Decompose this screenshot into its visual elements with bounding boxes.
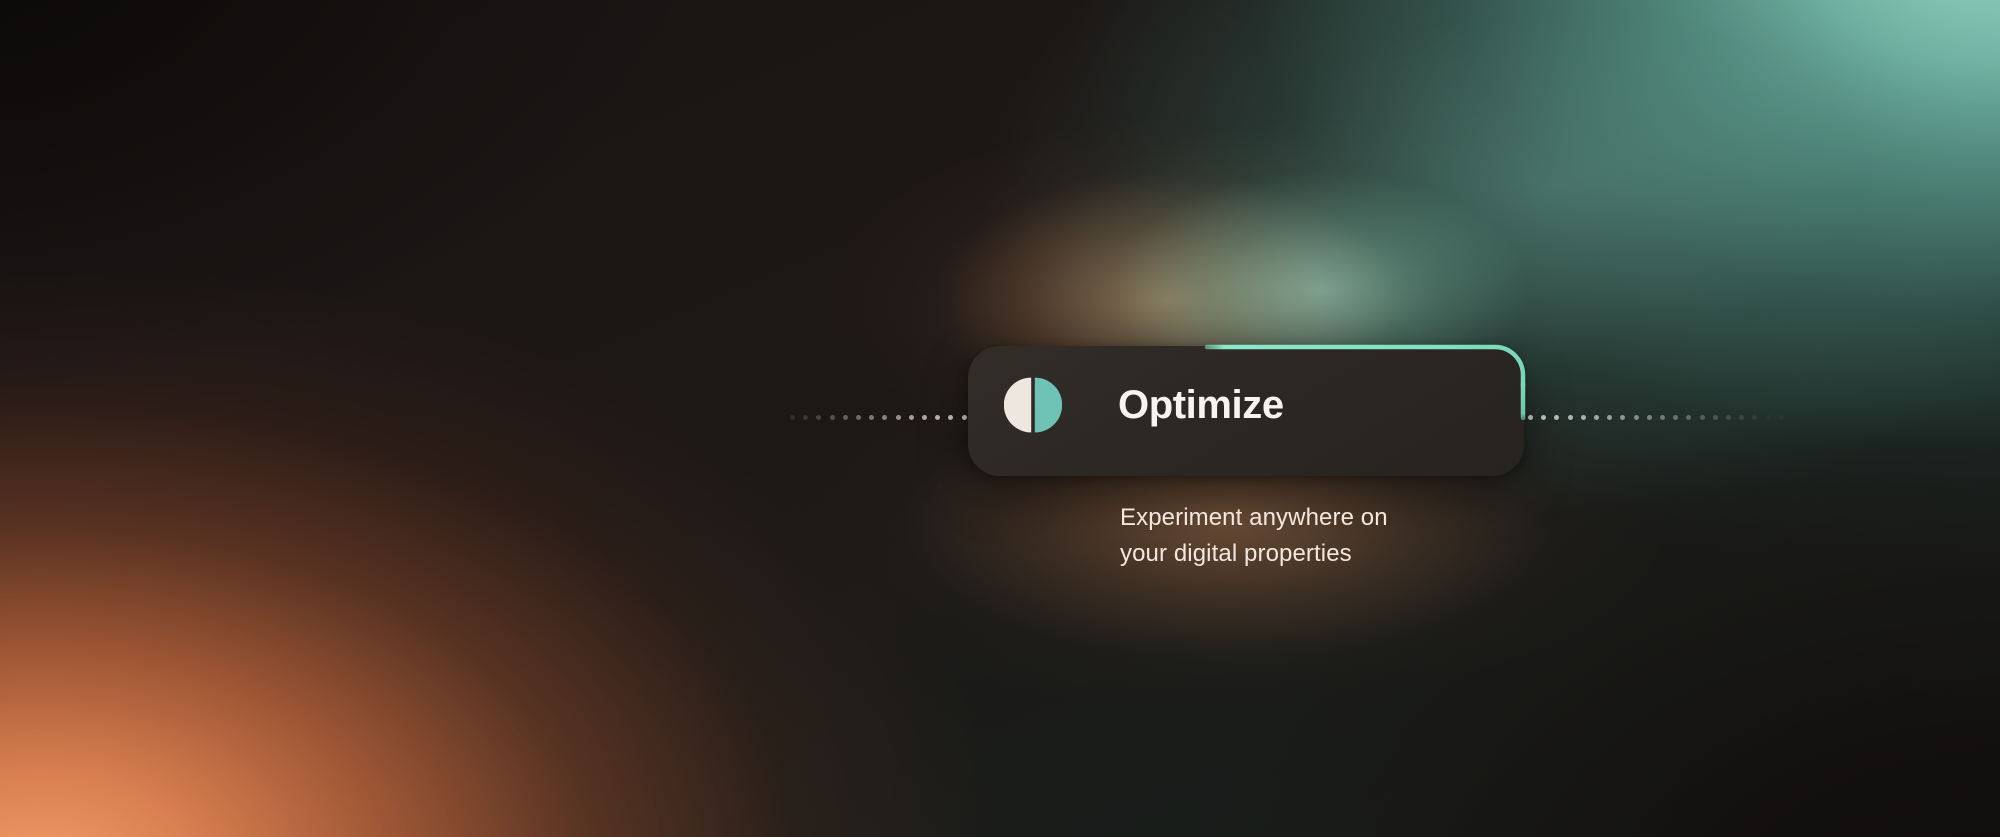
connector-dot xyxy=(1779,415,1784,420)
connector-dot xyxy=(816,415,821,420)
connector-dot xyxy=(830,415,835,420)
connector-dot xyxy=(1686,415,1691,420)
connector-dot xyxy=(962,415,967,420)
connector-dot xyxy=(1554,415,1559,420)
connector-dot xyxy=(1568,415,1573,420)
card-title: Optimize xyxy=(1118,383,1284,428)
split-circle-logo-icon xyxy=(1004,376,1062,434)
connector-dot xyxy=(1647,415,1652,420)
connector-dot xyxy=(1739,415,1744,420)
card-subtitle-line-1: Experiment anywhere on xyxy=(1120,500,1480,536)
connector-dot xyxy=(790,415,795,420)
connector-dot xyxy=(1528,415,1533,420)
connector-dot xyxy=(856,415,861,420)
connector-dot xyxy=(1620,415,1625,420)
connector-dot xyxy=(909,415,914,420)
card-subtitle: Experiment anywhere on your digital prop… xyxy=(1120,500,1480,572)
connector-dot xyxy=(1541,415,1546,420)
connector-dot xyxy=(896,415,901,420)
connector-dot xyxy=(1660,415,1665,420)
connector-dot xyxy=(935,415,940,420)
connector-dot xyxy=(922,415,927,420)
connector-dot xyxy=(1713,415,1718,420)
connector-dot xyxy=(882,415,887,420)
connector-dot xyxy=(948,415,953,420)
dotted-line-left xyxy=(790,415,970,421)
connector-dot xyxy=(1581,415,1586,420)
connector-dot xyxy=(1752,415,1757,420)
connector-dot xyxy=(1726,415,1731,420)
hero-banner: Optimize Experiment anywhere on your dig… xyxy=(0,0,2000,837)
connector-dot xyxy=(803,415,808,420)
connector-dot xyxy=(869,415,874,420)
connector-dot xyxy=(843,415,848,420)
connector-dot xyxy=(1607,415,1612,420)
connector-dot xyxy=(1594,415,1599,420)
connector-dot xyxy=(1766,415,1771,420)
connector-dot xyxy=(1634,415,1639,420)
card-subtitle-line-2: your digital properties xyxy=(1120,536,1480,572)
dotted-line-right xyxy=(1528,415,1788,421)
connector-dot xyxy=(1700,415,1705,420)
connector-dot xyxy=(1673,415,1678,420)
